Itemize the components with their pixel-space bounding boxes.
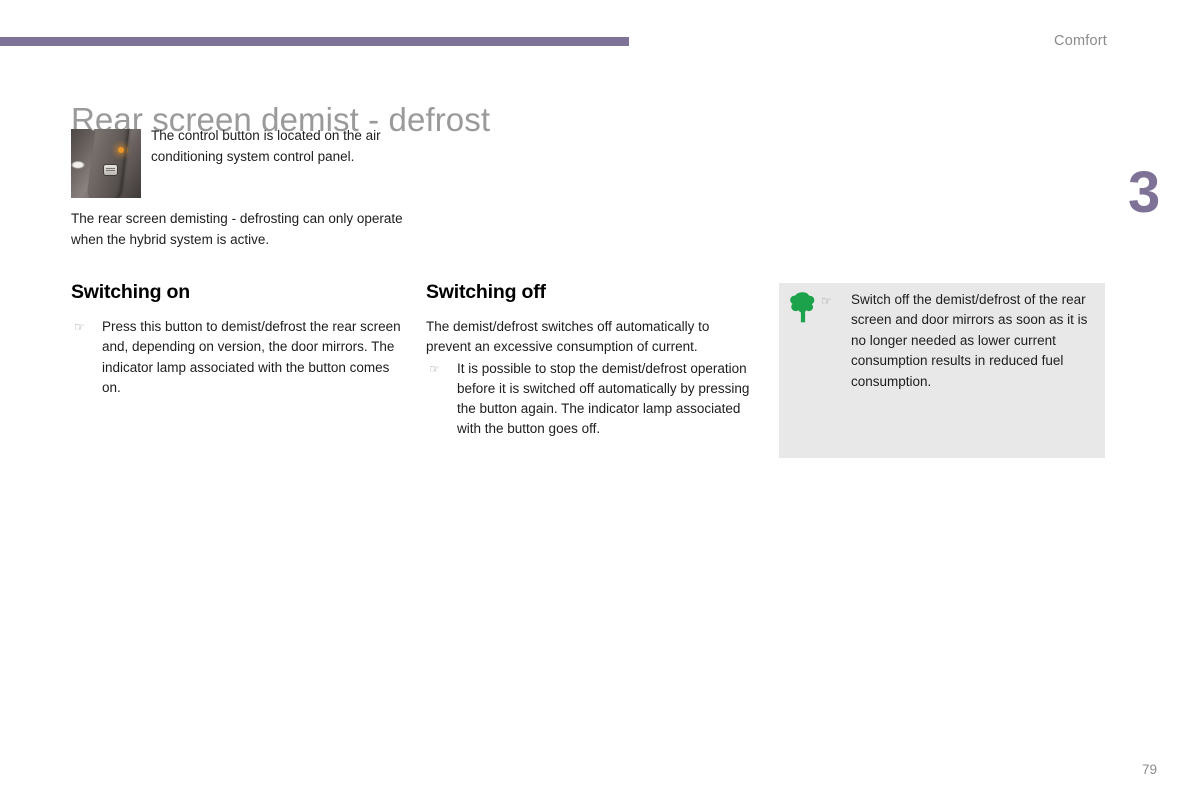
pointing-hand-icon: ☞ bbox=[821, 291, 832, 311]
intro-note: The rear screen demisting - defrosting c… bbox=[71, 209, 406, 250]
ac-control-panel-photo bbox=[71, 129, 141, 198]
header-rule bbox=[0, 37, 629, 46]
intro-block: The control button is located on the air… bbox=[71, 126, 401, 204]
section-heading-switching-off: Switching off bbox=[426, 281, 756, 304]
list-item-text: It is possible to stop the demist/defros… bbox=[457, 361, 749, 437]
list-item: ☞ Press this button to demist/defrost th… bbox=[71, 317, 403, 398]
header-section-label: Comfort bbox=[1054, 33, 1107, 49]
section-paragraph: The demist/defrost switches off automati… bbox=[426, 317, 756, 358]
indicator-lamp-icon bbox=[118, 147, 124, 153]
list-item-text: Press this button to demist/defrost the … bbox=[102, 319, 401, 395]
manual-page: Comfort 3 Rear screen demist - defrost T… bbox=[0, 0, 1200, 800]
list-item: ☞ It is possible to stop the demist/defr… bbox=[426, 359, 756, 440]
demist-button-icon bbox=[104, 165, 117, 175]
pointing-hand-icon: ☞ bbox=[429, 359, 440, 379]
pointing-hand-icon: ☞ bbox=[74, 317, 85, 337]
eco-tip-text: Switch off the demist/defrost of the rea… bbox=[851, 290, 1099, 392]
tree-icon bbox=[788, 291, 818, 323]
eco-tip-box: ☞ Switch off the demist/defrost of the r… bbox=[779, 283, 1105, 458]
section-heading-switching-on: Switching on bbox=[71, 281, 403, 304]
column-switching-on: Switching on ☞ Press this button to demi… bbox=[71, 281, 403, 398]
column-switching-off: Switching off The demist/defrost switche… bbox=[426, 281, 756, 440]
page-number: 79 bbox=[1142, 762, 1157, 777]
chapter-number: 3 bbox=[1128, 164, 1159, 222]
